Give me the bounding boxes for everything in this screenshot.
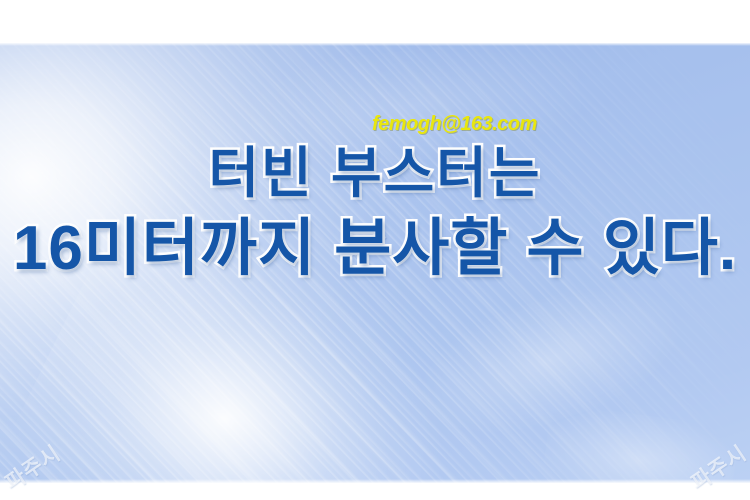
- video-frame: 파주시 터빈 부스터는 16미터까지 분사할 수 있다. femogh@163.…: [0, 0, 750, 500]
- letterbox-bottom: [0, 483, 750, 500]
- email-watermark: femogh@163.com: [372, 113, 537, 136]
- letterbox-top: [0, 0, 750, 43]
